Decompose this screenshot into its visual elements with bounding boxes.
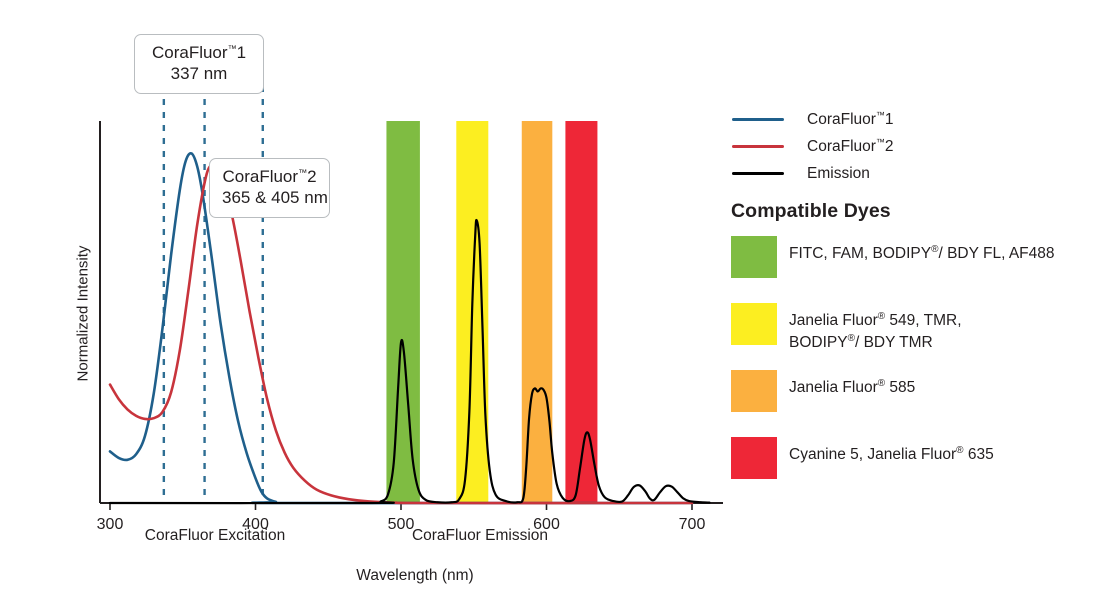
trademark-symbol: ™ (228, 43, 237, 53)
legend-item-label: CoraFluor™1 (807, 110, 894, 129)
callout-1-line1: CoraFluor™1 (147, 42, 251, 63)
green-band (386, 121, 419, 503)
orange-band (522, 121, 553, 503)
trademark-symbol: ™ (298, 167, 307, 177)
dye-color-swatch (731, 370, 777, 412)
legend-item-corafluor-2: CoraFluor™2 (729, 133, 1110, 160)
spectra-plot: 300400500600700 (0, 0, 730, 612)
excitation-range-label: CoraFluor Excitation (140, 527, 290, 545)
dye-color-swatch (731, 437, 777, 479)
series-legend: CoraFluor™1 CoraFluor™2 Emission (729, 106, 1110, 187)
dye-list-item: FITC, FAM, BODIPY®/ BDY FL, AF488 (729, 236, 1110, 303)
dye-list-item: Cyanine 5, Janelia Fluor® 635 (729, 437, 1110, 504)
compatible-dyes-list: FITC, FAM, BODIPY®/ BDY FL, AF488 Janeli… (729, 236, 1110, 504)
legend-item-corafluor-1: CoraFluor™1 (729, 106, 1110, 133)
legend-line-swatch (732, 118, 784, 121)
figure-root: 300400500600700 CoraFluor™1 337 nm CoraF… (0, 0, 1110, 612)
legend-item-label: CoraFluor™2 (807, 137, 894, 156)
dye-color-swatch (731, 236, 777, 278)
dye-list-item: Janelia Fluor® 585 (729, 370, 1110, 437)
dye-label: Janelia Fluor® 585 (789, 377, 915, 399)
dye-label: Janelia Fluor® 549, TMR,BODIPY®/ BDY TMR (789, 310, 962, 353)
legend-item-emission: Emission (729, 160, 1110, 187)
plot-area: 300400500600700 (0, 0, 730, 612)
dye-list-item: Janelia Fluor® 549, TMR,BODIPY®/ BDY TMR (729, 303, 1110, 370)
dye-label: FITC, FAM, BODIPY®/ BDY FL, AF488 (789, 243, 1055, 265)
legend-line-swatch (732, 145, 784, 148)
legend-line-swatch (732, 172, 784, 175)
x-axis-title: Wavelength (nm) (290, 567, 540, 585)
legend-item-label: Emission (807, 165, 870, 183)
callout-1-line2: 337 nm (147, 63, 251, 84)
x-tick-label: 700 (679, 516, 706, 533)
callout-2-line1: CoraFluor™2 (222, 166, 317, 187)
y-axis-title: Normalized Intensity (75, 214, 92, 414)
callout-2-line2: 365 & 405 nm (222, 187, 317, 208)
dye-color-swatch (731, 303, 777, 345)
callout-corafluor-2: CoraFluor™2 365 & 405 nm (209, 158, 330, 218)
dye-label: Cyanine 5, Janelia Fluor® 635 (789, 444, 994, 466)
x-tick-label: 300 (97, 516, 124, 533)
callout-corafluor-1: CoraFluor™1 337 nm (134, 34, 264, 94)
red-band (565, 121, 597, 503)
compatible-dyes-heading: Compatible Dyes (731, 200, 891, 223)
emission-range-label: CoraFluor Emission (405, 527, 555, 545)
